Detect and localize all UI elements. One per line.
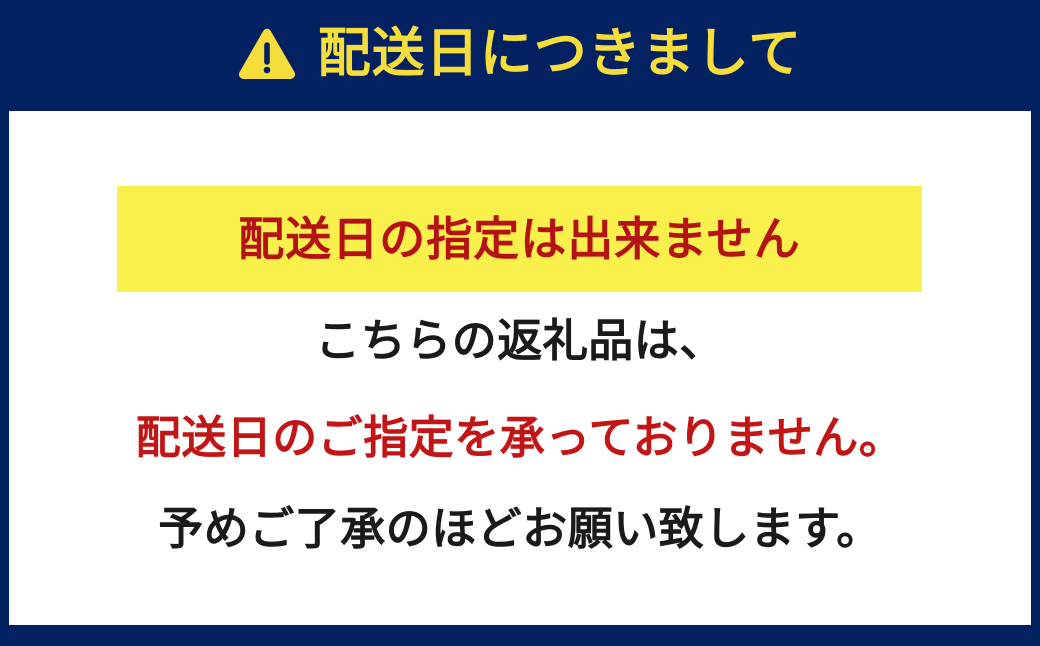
frame-border-bottom	[0, 625, 1040, 646]
highlight-callout-text: 配送日の指定は出来ません	[238, 216, 801, 262]
warning-triangle-icon	[238, 28, 296, 80]
header-band: 配送日につきまして	[0, 0, 1040, 111]
body-line-3: 予めご了承のほどお願い致します。	[9, 506, 1031, 551]
body-text-block: こちらの返礼品は、 配送日のご指定を承っておりません。 予めご了承のほどお願い致…	[9, 318, 1031, 551]
highlight-callout-box: 配送日の指定は出来ません	[117, 186, 922, 292]
delivery-date-notice-banner: 配送日につきまして 配送日の指定は出来ません こちらの返礼品は、 配送日のご指定…	[0, 0, 1040, 646]
header-content: 配送日につきまして	[238, 27, 802, 80]
body-line-1: こちらの返礼品は、	[9, 318, 1031, 363]
page-title: 配送日につきまして	[318, 27, 802, 80]
body-line-2: 配送日のご指定を承っておりません。	[9, 415, 1031, 460]
